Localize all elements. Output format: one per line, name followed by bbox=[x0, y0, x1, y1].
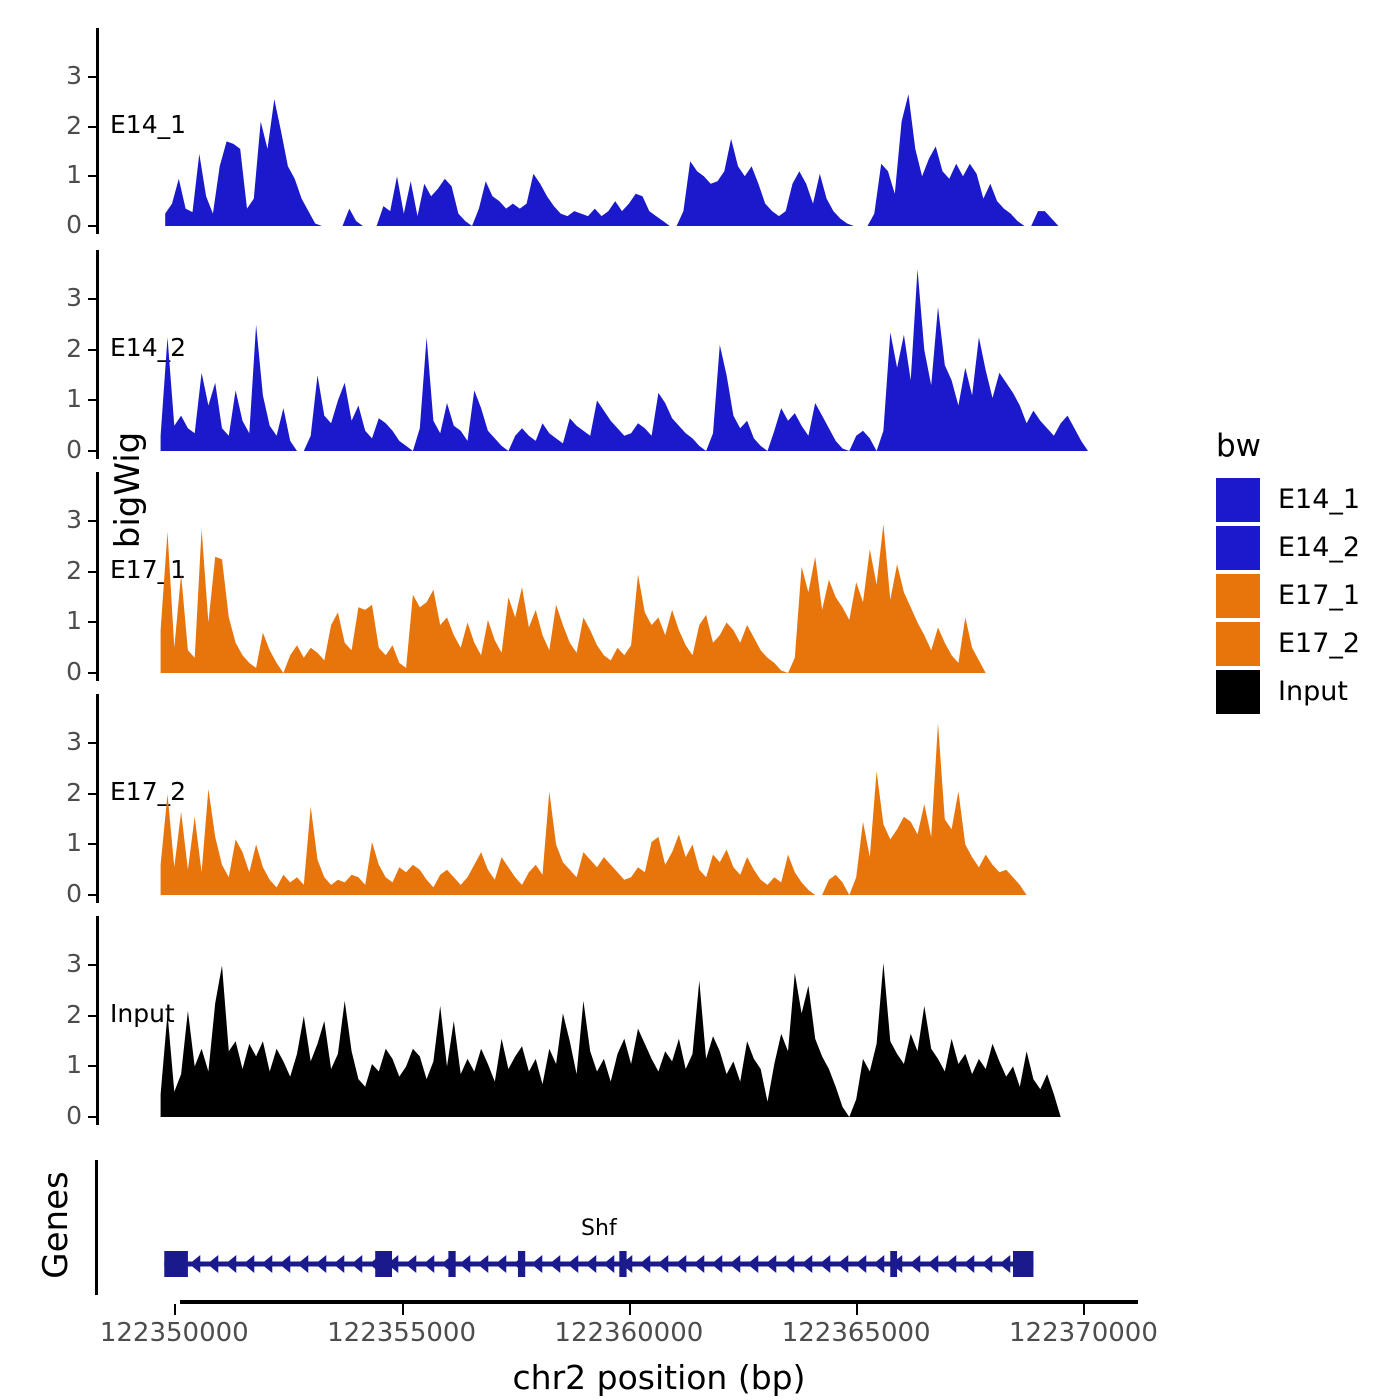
strand-arrow-icon bbox=[603, 1255, 614, 1273]
strand-arrow-icon bbox=[729, 1255, 740, 1273]
strand-arrow-icon bbox=[549, 1255, 560, 1273]
strand-arrow-icon bbox=[315, 1255, 326, 1273]
x-axis-title: chr2 position (bp) bbox=[180, 1358, 1138, 1397]
strand-arrow-icon bbox=[405, 1255, 416, 1273]
strand-arrow-icon bbox=[531, 1255, 542, 1273]
gene-exon-block bbox=[890, 1251, 897, 1277]
strand-arrow-icon bbox=[657, 1255, 668, 1273]
strand-arrow-icon bbox=[423, 1255, 434, 1273]
gene-exon-block bbox=[448, 1251, 455, 1277]
legend-color-swatch bbox=[1216, 670, 1260, 714]
strand-arrow-icon bbox=[981, 1255, 992, 1273]
strand-arrow-icon bbox=[351, 1255, 362, 1273]
strand-arrow-icon bbox=[945, 1255, 956, 1273]
x-tick bbox=[629, 1304, 631, 1315]
legend-item-label: E14_2 bbox=[1278, 532, 1360, 563]
x-tick bbox=[1083, 1304, 1085, 1315]
legend-color-swatch bbox=[1216, 526, 1260, 570]
gene-exon-block bbox=[619, 1251, 626, 1277]
strand-arrow-icon bbox=[837, 1255, 848, 1273]
x-tick-label: 122350000 bbox=[64, 1318, 284, 1348]
strand-arrow-icon bbox=[567, 1255, 578, 1273]
strand-arrow-icon bbox=[783, 1255, 794, 1273]
x-tick-label: 122360000 bbox=[519, 1318, 739, 1348]
strand-arrow-icon bbox=[693, 1255, 704, 1273]
strand-arrow-icon bbox=[207, 1255, 218, 1273]
strand-arrow-icon bbox=[297, 1255, 308, 1273]
strand-arrow-icon bbox=[495, 1255, 506, 1273]
legend-item-label: E17_2 bbox=[1278, 628, 1360, 659]
gene-exon-block bbox=[375, 1251, 392, 1277]
strand-arrow-icon bbox=[639, 1255, 650, 1273]
x-tick-label: 122365000 bbox=[746, 1318, 966, 1348]
strand-arrow-icon bbox=[819, 1255, 830, 1273]
x-tick bbox=[856, 1304, 858, 1315]
gene-exon-block bbox=[1013, 1251, 1033, 1277]
x-tick bbox=[174, 1304, 176, 1315]
strand-arrow-icon bbox=[459, 1255, 470, 1273]
strand-arrow-icon bbox=[765, 1255, 776, 1273]
legend-color-swatch bbox=[1216, 478, 1260, 522]
strand-arrow-icon bbox=[963, 1255, 974, 1273]
strand-arrow-icon bbox=[477, 1255, 488, 1273]
x-tick-label: 122355000 bbox=[292, 1318, 512, 1348]
strand-arrow-icon bbox=[675, 1255, 686, 1273]
x-axis-line bbox=[180, 1300, 1138, 1304]
strand-arrow-icon bbox=[279, 1255, 290, 1273]
strand-arrow-icon bbox=[225, 1255, 236, 1273]
gene-exon-block bbox=[518, 1251, 525, 1277]
strand-arrow-icon bbox=[333, 1255, 344, 1273]
strand-arrow-icon bbox=[855, 1255, 866, 1273]
strand-arrow-icon bbox=[585, 1255, 596, 1273]
genome-browser-figure: bigWig Genes 0123E14_10123E14_20123E17_1… bbox=[0, 0, 1400, 1400]
strand-arrow-icon bbox=[873, 1255, 884, 1273]
legend-item-label: E14_1 bbox=[1278, 484, 1360, 515]
strand-arrow-icon bbox=[999, 1255, 1010, 1273]
x-tick bbox=[402, 1304, 404, 1315]
strand-arrow-icon bbox=[909, 1255, 920, 1273]
gene-intron-line bbox=[164, 1262, 1033, 1267]
gene-exon-block bbox=[164, 1251, 188, 1277]
strand-arrow-icon bbox=[261, 1255, 272, 1273]
x-tick-label: 122370000 bbox=[973, 1318, 1193, 1348]
legend-item-label: Input bbox=[1278, 676, 1348, 707]
gene-model-shf[interactable] bbox=[0, 0, 1400, 1400]
strand-arrow-icon bbox=[189, 1255, 200, 1273]
strand-arrow-icon bbox=[801, 1255, 812, 1273]
strand-arrow-icon bbox=[711, 1255, 722, 1273]
strand-arrow-icon bbox=[927, 1255, 938, 1273]
legend-title: bw bbox=[1216, 428, 1261, 464]
legend-color-swatch bbox=[1216, 622, 1260, 666]
strand-arrow-icon bbox=[243, 1255, 254, 1273]
legend-color-swatch bbox=[1216, 574, 1260, 618]
legend-item-label: E17_1 bbox=[1278, 580, 1360, 611]
strand-arrow-icon bbox=[747, 1255, 758, 1273]
